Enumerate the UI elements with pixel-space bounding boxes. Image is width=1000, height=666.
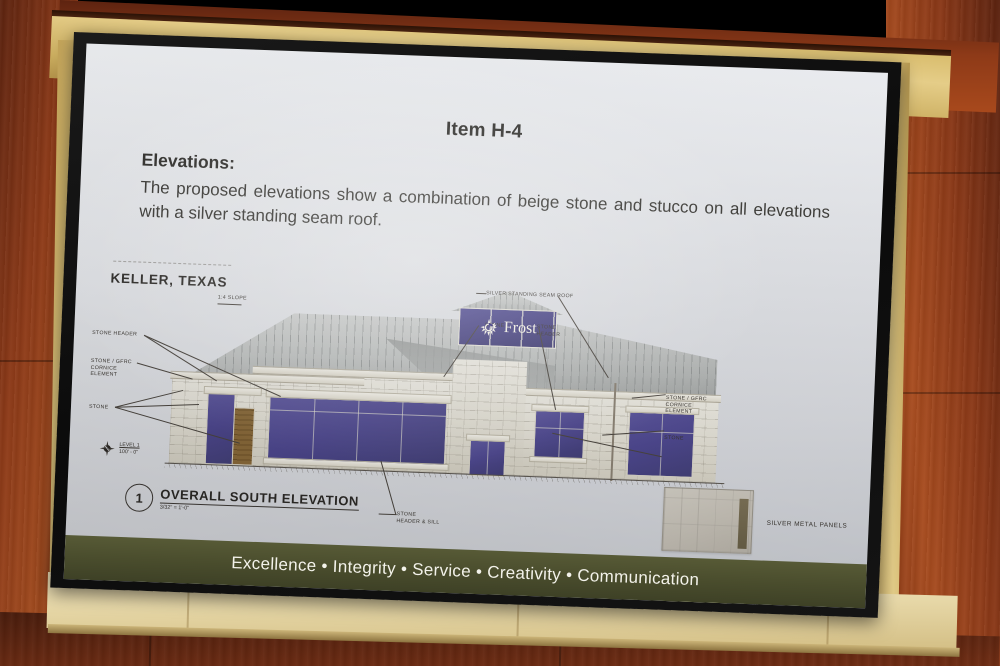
callout-stone-right: STONE [664, 435, 684, 442]
swatch-silver-metal-panels [661, 487, 754, 554]
screen-bezel: Item H-4 Elevations: The proposed elevat… [50, 32, 901, 618]
slide-surface: Item H-4 Elevations: The proposed elevat… [64, 43, 888, 608]
level-datum-text: LEVEL 1 100' - 0" [119, 442, 140, 456]
tower-door [468, 440, 506, 477]
leader-stone-header-sill-a [379, 513, 397, 515]
footer-tagline: Excellence • Integrity • Service • Creat… [231, 553, 700, 590]
compass-datum-icon [99, 440, 116, 457]
window-storefront [267, 396, 448, 466]
slide-title: Item H-4 [83, 105, 885, 156]
level-elevation: 100' - 0" [119, 449, 138, 456]
leader-silver-roof-a [476, 293, 486, 294]
projection-screen: Item H-4 Elevations: The proposed elevat… [50, 32, 901, 618]
callout-slope: 1:4 SLOPE [218, 294, 247, 302]
level-datum-marker: LEVEL 1 100' - 0" [99, 440, 140, 457]
level-name: LEVEL 1 [119, 442, 140, 449]
callout-stone-left: STONE [89, 404, 109, 411]
callout-stone-header-sill: STONE HEADER & SILL [396, 511, 440, 526]
project-location-label: KELLER, TEXAS [110, 271, 227, 290]
material-label-metal: SILVER METAL PANELS [767, 519, 848, 529]
window-left-1 [205, 392, 236, 465]
frost-wordmark: Frost [503, 320, 537, 337]
elevation-drawing: KELLER, TEXAS 1:4 SLOPE [78, 254, 888, 551]
callout-stone-header-left: STONE HEADER [92, 330, 137, 338]
callout-stone-gfrc-left: STONE / GFRC CORNICE ELEMENT [90, 358, 132, 379]
material-row-metal: SILVER METAL PANELS [661, 487, 848, 558]
frost-starburst-icon [478, 317, 499, 338]
slide-body-text: The proposed elevations show a combinati… [139, 176, 831, 249]
conference-room-photo: Item H-4 Elevations: The proposed elevat… [0, 0, 1000, 666]
title-rule [113, 261, 231, 266]
window-right-2 [627, 412, 696, 478]
slope-arrow-rule [217, 303, 241, 305]
callout-stone-gfrc-right: STONE / GFRC CORNICE ELEMENT [665, 395, 707, 416]
slide-heading: Elevations: [141, 150, 235, 174]
elevation-number: 1 [125, 483, 154, 512]
elevation-title-block: 1 OVERALL SOUTH ELEVATION 3/32" = 1'-0" [125, 483, 360, 520]
